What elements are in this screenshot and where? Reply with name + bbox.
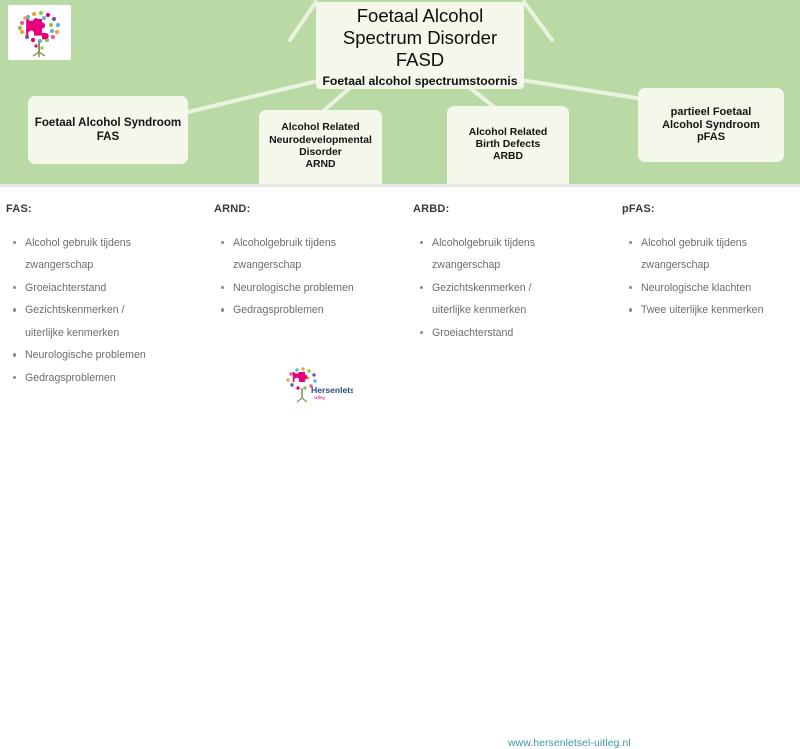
list-column-arbd: ARBD: Alcoholgebruik tijdenszwangerschap… xyxy=(407,192,616,362)
connector-root-stem-right xyxy=(524,2,552,40)
list-column-arnd: ARND: Alcoholgebruik tijdenszwangerschap… xyxy=(208,192,407,362)
list-item: uiterlijke kenmerken xyxy=(412,299,616,321)
list-item: Gezichtskenmerken / xyxy=(5,299,208,321)
list-item: zwangerschap xyxy=(621,254,800,276)
list-item: Groeiachterstand xyxy=(412,322,616,344)
list-item: uiterlijke kenmerken xyxy=(5,322,208,344)
node-pfas-line3: pFAS xyxy=(697,131,725,144)
brand-logo-tile xyxy=(8,5,71,60)
connector-root-stem-left xyxy=(290,2,316,40)
list-heading-pfas: pFAS: xyxy=(621,203,800,215)
node-arnd-line4: ARND xyxy=(305,159,335,171)
logo-subtitle: uitleg xyxy=(314,395,325,400)
list-item: zwangerschap xyxy=(412,254,616,276)
hersenletsel-logo-icon: Hersenletsel uitleg xyxy=(277,365,353,405)
node-arbd-line1: Alcohol Related xyxy=(469,127,548,139)
brain-tree-logo-icon xyxy=(8,5,71,60)
root-subtitle: Foetaal alcohol spectrumstoornis xyxy=(322,74,517,88)
list-items-arnd: Alcoholgebruik tijdenszwangerschapNeurol… xyxy=(213,215,407,322)
connector-root-to-fas xyxy=(188,78,330,112)
list-column-fas: FAS: Alcohol gebruik tijdenszwangerschap… xyxy=(0,192,208,362)
list-item: Alcohol gebruik tijdens xyxy=(5,232,208,254)
list-item: zwangerschap xyxy=(5,254,208,276)
root-node-fasd: Foetaal Alcohol Spectrum Disorder FASD F… xyxy=(316,2,524,89)
list-item: Gezichtskenmerken / xyxy=(412,277,616,299)
list-item: zwangerschap xyxy=(213,254,407,276)
brand-logo-footer: Hersenletsel uitleg xyxy=(277,365,353,405)
list-items-arbd: Alcoholgebruik tijdenszwangerschapGezich… xyxy=(412,215,616,344)
symptom-lists: FAS: Alcohol gebruik tijdenszwangerschap… xyxy=(0,192,800,362)
root-title-line2: Spectrum Disorder xyxy=(343,27,497,49)
node-pfas-line2: Alcohol Syndroom xyxy=(662,119,760,132)
root-title-line3: FASD xyxy=(396,49,444,71)
node-arnd-line1: Alcohol Related xyxy=(281,122,360,134)
list-item: Alcohol gebruik tijdens xyxy=(621,232,800,254)
node-pfas-line1: partieel Foetaal xyxy=(671,106,752,119)
list-item: Alcoholgebruik tijdens xyxy=(213,232,407,254)
list-heading-fas: FAS: xyxy=(5,203,208,215)
connector-root-to-pfas xyxy=(508,78,650,100)
node-arbd: Alcohol Related Birth Defects ARBD xyxy=(447,106,569,184)
node-arnd: Alcohol Related Neurodevelopmental Disor… xyxy=(259,110,382,184)
site-url[interactable]: www.hersenletsel-uitleg.nl xyxy=(508,738,631,749)
list-item: Neurologische klachten xyxy=(621,277,800,299)
node-fas-line2: FAS xyxy=(97,130,120,144)
node-arnd-line2: Neurodevelopmental xyxy=(269,135,372,147)
node-arbd-line3: ARBD xyxy=(493,151,523,163)
list-heading-arnd: ARND: xyxy=(213,203,407,215)
footer: Hersenletsel uitleg www.hersenletsel-uit… xyxy=(0,362,800,416)
list-item: Gedragsproblemen xyxy=(213,299,407,321)
diagram-panel: Foetaal Alcohol Spectrum Disorder FASD F… xyxy=(0,0,800,184)
node-arnd-line3: Disorder xyxy=(299,147,342,159)
list-items-pfas: Alcohol gebruik tijdenszwangerschapNeuro… xyxy=(621,215,800,322)
list-heading-arbd: ARBD: xyxy=(412,203,616,215)
list-column-pfas: pFAS: Alcohol gebruik tijdenszwangerscha… xyxy=(616,192,800,362)
list-item: Neurologische problemen xyxy=(213,277,407,299)
connector-root-to-arnd xyxy=(322,88,350,112)
node-arbd-line2: Birth Defects xyxy=(476,139,541,151)
logo-wordmark: Hersenletsel xyxy=(311,385,353,395)
list-item: Groeiachterstand xyxy=(5,277,208,299)
node-fas-line1: Foetaal Alcohol Syndroom xyxy=(35,116,181,130)
list-item: Twee uiterlijke kenmerken xyxy=(621,299,800,321)
node-pfas: partieel Foetaal Alcohol Syndroom pFAS xyxy=(638,88,784,162)
node-fas: Foetaal Alcohol Syndroom FAS xyxy=(28,96,188,164)
list-item: Alcoholgebruik tijdens xyxy=(412,232,616,254)
panel-divider xyxy=(0,184,800,187)
root-title-line1: Foetaal Alcohol xyxy=(357,5,484,27)
